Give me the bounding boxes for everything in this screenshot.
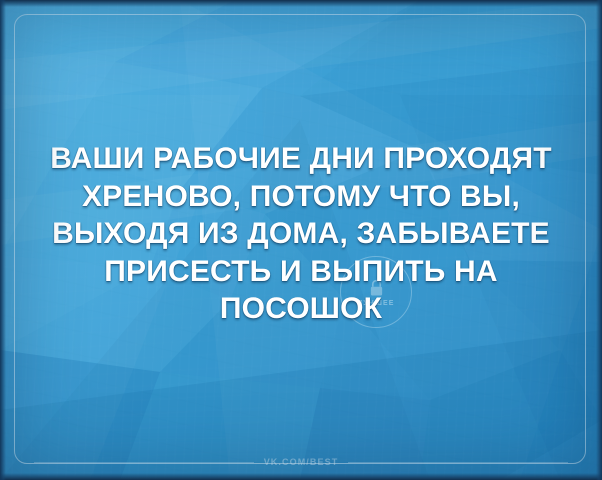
caption-line-5: ПОСОШОК [18, 290, 584, 328]
caption-line-4: ПРИСЕСТЬ И ВЫПИТЬ НА [18, 253, 584, 291]
meme-card: ЛУЧШЕЕ ВАШИ РАБОЧИЕ ДНИ ПРОХОДЯТ ХРЕНОВО… [0, 0, 602, 480]
caption-line-2: ХРЕНОВО, ПОТОМУ ЧТО ВЫ, [18, 178, 584, 216]
caption-line-1: ВАШИ РАБОЧИЕ ДНИ ПРОХОДЯТ [18, 140, 584, 178]
caption-line-3: ВЫХОДЯ ИЗ ДОМА, ЗАБЫВАЕТЕ [18, 215, 584, 253]
caption-text-block: ВАШИ РАБОЧИЕ ДНИ ПРОХОДЯТ ХРЕНОВО, ПОТОМ… [0, 140, 602, 328]
